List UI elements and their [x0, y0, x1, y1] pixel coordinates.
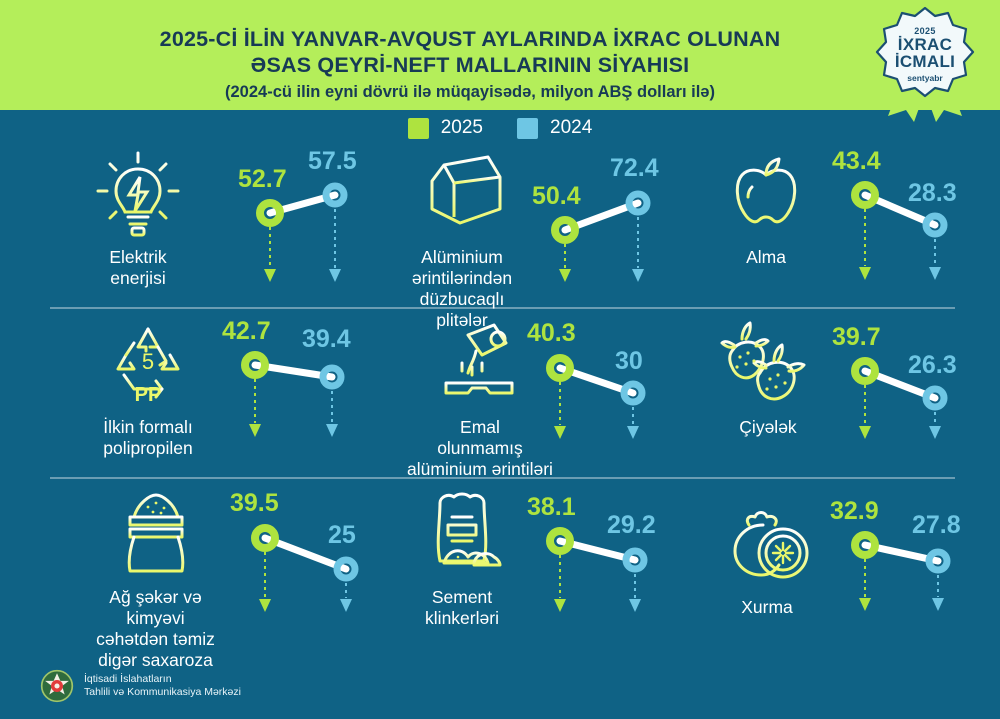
- export-review-badge: 2025 İXRAC İCMALI sentyabr: [866, 2, 984, 122]
- items-row-2: 5 PP İlkin formalı polipropilen: [0, 313, 1000, 483]
- item-label: Çiyələk: [739, 417, 796, 438]
- value-2025: 40.3: [527, 319, 576, 348]
- value-2024: 29.2: [607, 511, 656, 540]
- legend: 2025 2024: [0, 113, 1000, 143]
- slope-chart-polipropilen: 42.7 39.4: [210, 323, 370, 473]
- value-2025: 43.4: [832, 147, 881, 176]
- value-2025: 32.9: [830, 497, 879, 526]
- organization-name: İqtisadi İslahatlarınTahlili və Kommunik…: [84, 673, 241, 700]
- value-2024: 27.8: [912, 511, 961, 540]
- header-title-group: 2025-Cİ İLİN YANVAR-AVQUST AYLARINDA İXR…: [90, 26, 850, 104]
- value-2024: 30: [615, 347, 643, 376]
- slope-chart-ag-seker: 39.5 25: [210, 493, 380, 653]
- item-cell-sement-klinkerleri: Sement klinkerləri 38.1 29.2: [360, 483, 680, 663]
- page-title-line2: ƏSAS QEYRİ-NEFT MALLARININ SİYAHISI: [90, 52, 850, 78]
- value-2025: 39.7: [832, 323, 881, 352]
- item-label: Xurma: [741, 597, 793, 618]
- slope-chart-xurma: 32.9 27.8: [820, 497, 990, 657]
- row-divider: [50, 477, 955, 479]
- footer-branding: İqtisadi İslahatlarınTahlili və Kommunik…: [40, 669, 241, 703]
- item-label: Elektrik enerjisi: [109, 247, 166, 289]
- organization-emblem-icon: [40, 669, 74, 703]
- item-cell-alma: Alma 43.4 28.3: [680, 143, 1000, 313]
- item-cell-emal-olunmamis: Emal olunmamış alüminium ərintiləri 40.3…: [360, 313, 680, 483]
- svg-text:5: 5: [142, 349, 154, 374]
- page-title-line1: 2025-Cİ İLİN YANVAR-AVQUST AYLARINDA İXR…: [90, 26, 850, 52]
- value-2024: 57.5: [308, 147, 357, 176]
- legend-label-2025: 2025: [441, 117, 483, 139]
- aluminium-ingot-icon: [414, 147, 510, 243]
- badge-line1: İXRAC: [898, 36, 952, 53]
- items-grid: Elektrik enerjisi 52.7 57.5: [0, 143, 1000, 663]
- item-cell-ag-seker: Ağ şəkər və kimyəvi cəhətdən təmiz digər…: [40, 483, 360, 663]
- item-label: Alma: [746, 247, 786, 268]
- slope-chart-sement-klinkerleri: 38.1 29.2: [515, 493, 685, 653]
- item-cell-polipropilen: 5 PP İlkin formalı polipropilen: [40, 313, 360, 483]
- item-cell-ciyelek: Çiyələk 39.7 26.3: [680, 313, 1000, 483]
- legend-item-2024: 2024: [517, 117, 592, 139]
- value-2024: 28.3: [908, 179, 957, 208]
- page-subtitle: (2024-cü ilin eyni dövrü ilə müqayisədə,…: [90, 80, 850, 104]
- value-2025: 38.1: [527, 493, 576, 522]
- value-2024: 39.4: [302, 325, 351, 354]
- molten-metal-pour-icon: [432, 317, 528, 413]
- infographic-page: 2025-Cİ İLİN YANVAR-AVQUST AYLARINDA İXR…: [0, 0, 1000, 719]
- item-cell-elektrik-enerjisi: Elektrik enerjisi 52.7 57.5: [40, 143, 360, 313]
- legend-label-2024: 2024: [550, 117, 592, 139]
- value-2025: 39.5: [230, 489, 279, 518]
- badge-month: sentyabr: [907, 73, 942, 83]
- item-cell-xurma: Xurma 32.9 27.8: [680, 483, 1000, 663]
- org-line2: Tahlili və Kommunikasiya Mərkəzi: [84, 686, 241, 698]
- value-2025: 42.7: [222, 317, 271, 346]
- persimmon-icon: [719, 497, 815, 593]
- recycle-pp-icon: 5 PP: [100, 317, 196, 413]
- slope-chart-alma: 43.4 28.3: [820, 153, 980, 303]
- slope-chart-emal-olunmamis: 40.3 30: [515, 323, 675, 473]
- badge-line2: İCMALI: [895, 53, 955, 70]
- svg-text:PP: PP: [135, 384, 162, 406]
- legend-swatch-blue-icon: [517, 118, 538, 139]
- badge-year: 2025: [914, 26, 936, 36]
- items-row-3: Ağ şəkər və kimyəvi cəhətdən təmiz digər…: [0, 483, 1000, 663]
- item-label: İlkin formalı polipropilen: [103, 417, 193, 459]
- badge-text-group: 2025 İXRAC İCMALI sentyabr: [874, 6, 976, 102]
- org-line1: İqtisadi İslahatların: [84, 673, 172, 685]
- value-2024: 26.3: [908, 351, 957, 380]
- legend-item-2025: 2025: [408, 117, 483, 139]
- slope-chart-aluminium-plitelar: 50.4 72.4: [520, 178, 670, 318]
- cement-bag-icon: [414, 487, 510, 583]
- value-2024: 25: [328, 521, 356, 550]
- value-2024: 72.4: [610, 154, 659, 183]
- header-banner: 2025-Cİ İLİN YANVAR-AVQUST AYLARINDA İXR…: [0, 0, 1000, 110]
- item-label: Sement klinkerləri: [425, 587, 499, 629]
- sugar-sack-icon: [108, 487, 204, 583]
- item-cell-aluminium-plitelar: Alüminium ərintilərindən düzbucaqlı plit…: [360, 143, 680, 313]
- items-row-1: Elektrik enerjisi 52.7 57.5: [0, 143, 1000, 313]
- slope-chart-elektrik-enerjisi: 52.7 57.5: [220, 163, 360, 303]
- item-label: Ağ şəkər və kimyəvi cəhətdən təmiz digər…: [96, 587, 215, 671]
- value-2025: 50.4: [532, 182, 581, 211]
- apple-icon: [718, 147, 814, 243]
- row-divider: [50, 307, 955, 309]
- slope-chart-ciyelek: 39.7 26.3: [820, 323, 980, 473]
- value-2025: 52.7: [238, 165, 287, 194]
- strawberry-icon: [720, 317, 816, 413]
- legend-swatch-green-icon: [408, 118, 429, 139]
- lightbulb-icon: [90, 147, 186, 243]
